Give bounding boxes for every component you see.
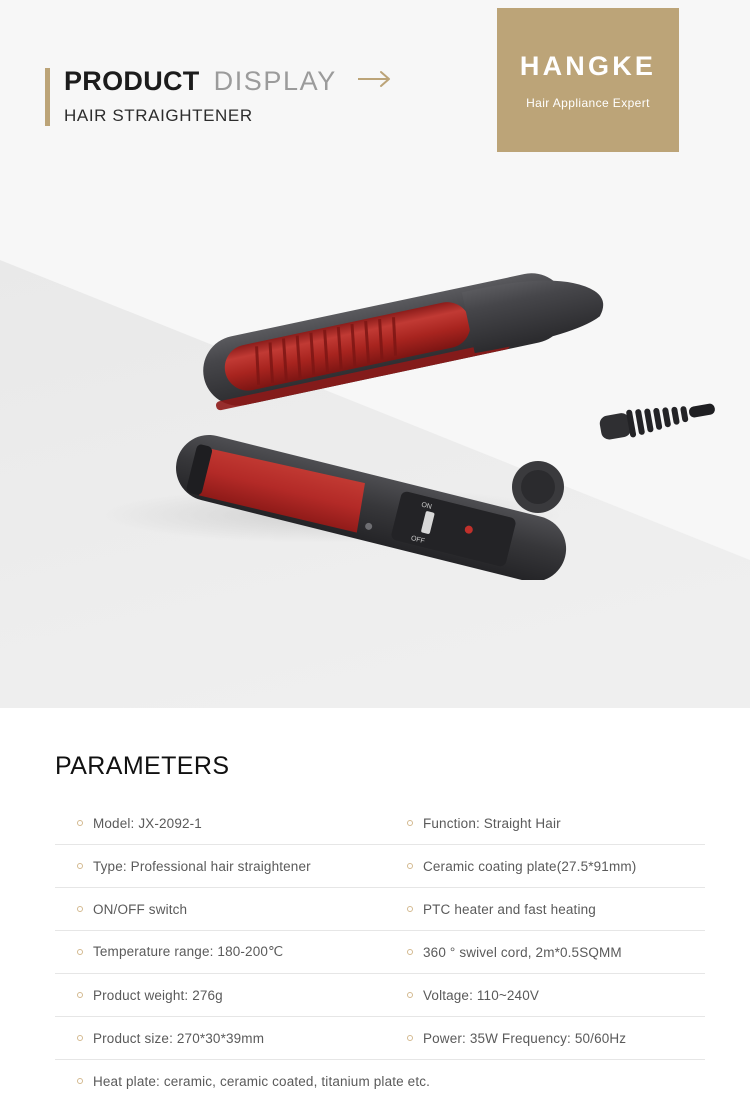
parameters-table: Model: JX-2092-1 Function: Straight Hair… — [55, 802, 705, 1102]
table-row: ON/OFF switch PTC heater and fast heatin… — [55, 888, 705, 931]
table-row: Heat plate: ceramic, ceramic coated, tit… — [55, 1060, 705, 1102]
brand-tagline: Hair Appliance Expert — [526, 96, 650, 110]
hair-straightener-product-image: ON OFF — [0, 160, 750, 580]
table-cell-full: Heat plate: ceramic, ceramic coated, tit… — [55, 1063, 705, 1100]
parameter-text: Ceramic coating plate(27.5*91mm) — [423, 859, 636, 874]
bullet-icon — [77, 1035, 83, 1041]
parameter-text: PTC heater and fast heating — [423, 902, 596, 917]
table-cell-right: 360 ° swivel cord, 2m*0.5SQMM — [385, 934, 705, 971]
parameter-text: Product weight: 276g — [93, 988, 223, 1003]
bullet-icon — [407, 949, 413, 955]
table-cell-left: Product size: 270*30*39mm — [55, 1020, 385, 1057]
table-cell-right: PTC heater and fast heating — [385, 891, 705, 928]
table-cell-left: ON/OFF switch — [55, 891, 385, 928]
page-subtitle: HAIR STRAIGHTENER — [64, 106, 253, 126]
bullet-icon — [77, 992, 83, 998]
brand-logo: HANGKE Hair Appliance Expert — [497, 8, 679, 152]
table-cell-right: Power: 35W Frequency: 50/60Hz — [385, 1020, 705, 1057]
parameters-section: PARAMETERS Model: JX-2092-1 Function: St… — [0, 708, 750, 1102]
bullet-icon — [407, 863, 413, 869]
bullet-icon — [407, 992, 413, 998]
table-cell-right: Function: Straight Hair — [385, 805, 705, 842]
bullet-icon — [407, 1035, 413, 1041]
header-accent-bar — [45, 68, 50, 126]
bullet-icon — [77, 863, 83, 869]
table-cell-right: Ceramic coating plate(27.5*91mm) — [385, 848, 705, 885]
table-row: Temperature range: 180-200℃ 360 ° swivel… — [55, 931, 705, 974]
table-row: Product size: 270*30*39mm Power: 35W Fre… — [55, 1017, 705, 1060]
table-cell-left: Model: JX-2092-1 — [55, 805, 385, 842]
arrow-right-icon — [357, 70, 395, 93]
table-cell-left: Temperature range: 180-200℃ — [55, 933, 385, 971]
page-title-strong: PRODUCT — [64, 66, 200, 97]
parameter-text: Function: Straight Hair — [423, 816, 561, 831]
parameter-text: Type: Professional hair straightener — [93, 859, 311, 874]
parameter-text: Temperature range: 180-200℃ — [93, 944, 283, 960]
page-header: PRODUCT DISPLAY HAIR STRAIGHTENER HANGKE… — [0, 0, 750, 160]
page-title-light: DISPLAY — [214, 66, 337, 97]
bullet-icon — [77, 949, 83, 955]
table-cell-left: Type: Professional hair straightener — [55, 848, 385, 885]
bullet-icon — [407, 820, 413, 826]
bullet-icon — [77, 820, 83, 826]
bullet-icon — [77, 906, 83, 912]
page-title: PRODUCT DISPLAY — [64, 66, 395, 97]
parameter-text: 360 ° swivel cord, 2m*0.5SQMM — [423, 945, 622, 960]
table-cell-right: Voltage: 110~240V — [385, 977, 705, 1014]
parameter-text: Voltage: 110~240V — [423, 988, 539, 1003]
table-row: Type: Professional hair straightener Cer… — [55, 845, 705, 888]
bullet-icon — [407, 906, 413, 912]
parameter-text: Power: 35W Frequency: 50/60Hz — [423, 1031, 626, 1046]
table-row: Model: JX-2092-1 Function: Straight Hair — [55, 802, 705, 845]
bullet-icon — [77, 1078, 83, 1084]
product-display-page: PRODUCT DISPLAY HAIR STRAIGHTENER HANGKE… — [0, 0, 750, 1102]
parameter-text: Product size: 270*30*39mm — [93, 1031, 264, 1046]
product-hero: ON OFF — [0, 160, 750, 708]
table-row: Product weight: 276g Voltage: 110~240V — [55, 974, 705, 1017]
parameter-text: Heat plate: ceramic, ceramic coated, tit… — [93, 1074, 430, 1089]
table-cell-left: Product weight: 276g — [55, 977, 385, 1014]
parameters-title: PARAMETERS — [55, 752, 229, 781]
parameter-text: ON/OFF switch — [93, 902, 187, 917]
parameter-text: Model: JX-2092-1 — [93, 816, 202, 831]
brand-name: HANGKE — [520, 51, 656, 82]
